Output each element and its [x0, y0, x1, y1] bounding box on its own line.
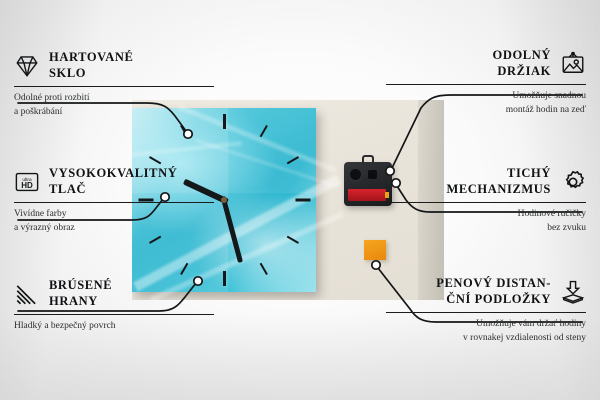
- clock-hands-pivot: [221, 197, 227, 203]
- mechanism-hanger: [362, 155, 374, 164]
- feature-desc-line2: a poškrábání: [14, 106, 214, 120]
- svg-text:HD: HD: [21, 181, 33, 190]
- feature-durable-hanger: ODOLNÝ DRŽIAK Umožňuje snadnou montáž ho…: [386, 48, 586, 118]
- feature-title: PENOVÝ DISTAN- ČNÍ PODLOŽKY: [436, 276, 551, 307]
- feature-divider: [386, 84, 586, 85]
- feature-title: BRÚSENÉ HRANY: [49, 278, 112, 309]
- feature-desc-line1: Umožňuje snadnou: [386, 90, 586, 104]
- feature-description: Hladký a bezpečný povrch: [14, 320, 214, 334]
- gear-icon: [560, 169, 586, 195]
- feature-desc-line2: a výrazný obraz: [14, 222, 214, 236]
- clock-tick: [296, 199, 311, 202]
- feature-description: Hodinové ručičky bez zvuku: [386, 208, 586, 236]
- feature-title-line2: HRANY: [49, 294, 112, 310]
- mechanism-switch: [368, 170, 377, 179]
- feature-title-line1: VYSOKOKVALITNÝ: [49, 166, 177, 182]
- feature-beveled-edges: BRÚSENÉ HRANY Hladký a bezpečný povrch: [14, 278, 214, 334]
- feature-desc-line2: bez zvuku: [386, 222, 586, 236]
- feature-heading: PENOVÝ DISTAN- ČNÍ PODLOŽKY: [386, 276, 586, 307]
- feature-title-line2: DRŽIAK: [493, 64, 551, 80]
- feature-desc-line1: Hladký a bezpečný povrch: [14, 320, 214, 334]
- feature-desc-line2: v rovnakej vzdialenosti od steny: [386, 332, 586, 346]
- feature-description: Umožňuje vám držať hodiny v rovnakej vzd…: [386, 318, 586, 346]
- feature-title-line1: PENOVÝ DISTAN-: [436, 276, 551, 292]
- feature-description: Vivídne farby a výrazný obraz: [14, 208, 214, 236]
- feature-heading: TICHÝ MECHANIZMUS: [386, 166, 586, 197]
- foam-spacer-icon: [560, 279, 586, 305]
- feature-title: TICHÝ MECHANIZMUS: [446, 166, 551, 197]
- feature-heading: ODOLNÝ DRŽIAK: [386, 48, 586, 79]
- feature-title: ODOLNÝ DRŽIAK: [493, 48, 551, 79]
- feature-title-line2: MECHANIZMUS: [446, 182, 551, 198]
- wall-hanger-icon: [560, 51, 586, 77]
- feature-title-line2: ČNÍ PODLOŽKY: [436, 292, 551, 308]
- feature-desc-line2: montáž hodin na zeď: [386, 104, 586, 118]
- feature-title: VYSOKOKVALITNÝ TLAČ: [49, 166, 177, 197]
- feature-title-line1: TICHÝ: [446, 166, 551, 182]
- feature-title-line1: HARTOVANÉ: [49, 50, 133, 66]
- battery: [348, 189, 386, 201]
- clock-tick: [223, 114, 226, 129]
- feature-foam-spacers: PENOVÝ DISTAN- ČNÍ PODLOŽKY Umožňuje vám…: [386, 276, 586, 346]
- feature-title-line1: BRÚSENÉ: [49, 278, 112, 294]
- feature-desc-line1: Odolné proti rozbití: [14, 92, 214, 106]
- feature-divider: [386, 202, 586, 203]
- feature-description: Umožňuje snadnou montáž hodin na zeď: [386, 90, 586, 118]
- feature-silent-mechanism: TICHÝ MECHANIZMUS Hodinové ručičky bez z…: [386, 166, 586, 236]
- feature-divider: [14, 202, 214, 203]
- foam-spacer-pad: [364, 240, 386, 260]
- feature-high-quality-print: ultra HD VYSOKOKVALITNÝ TLAČ Vivídne far…: [14, 166, 214, 236]
- feature-heading: HARTOVANÉ SKLO: [14, 50, 214, 81]
- feature-desc-line1: Vivídne farby: [14, 208, 214, 222]
- feature-divider: [386, 312, 586, 313]
- feature-description: Odolné proti rozbití a poškrábání: [14, 92, 214, 120]
- feature-title-line1: ODOLNÝ: [493, 48, 551, 64]
- clock-tick: [223, 271, 226, 286]
- feature-divider: [14, 314, 214, 315]
- mechanism-dial: [350, 169, 361, 180]
- feature-title: HARTOVANÉ SKLO: [49, 50, 133, 81]
- ultra-hd-icon: ultra HD: [14, 169, 40, 195]
- feature-heading: ultra HD VYSOKOKVALITNÝ TLAČ: [14, 166, 214, 197]
- feature-title-line2: SKLO: [49, 66, 133, 82]
- feature-desc-line1: Umožňuje vám držať hodiny: [386, 318, 586, 332]
- feature-desc-line1: Hodinové ručičky: [386, 208, 586, 222]
- feature-divider: [14, 86, 214, 87]
- clock-mechanism: [344, 162, 392, 206]
- feature-tempered-glass: HARTOVANÉ SKLO Odolné proti rozbití a po…: [14, 50, 214, 120]
- feature-heading: BRÚSENÉ HRANY: [14, 278, 214, 309]
- feature-title-line2: TLAČ: [49, 182, 177, 198]
- diamond-icon: [14, 53, 40, 79]
- beveled-edge-icon: [14, 281, 40, 307]
